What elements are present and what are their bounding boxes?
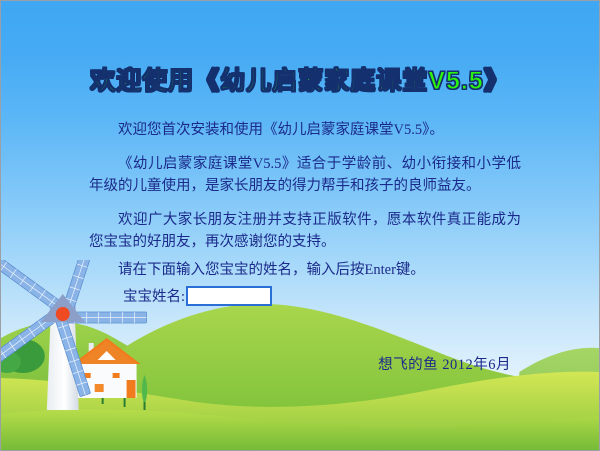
page-title: 欢迎使用《幼儿启蒙家庭课堂V5.5》	[1, 61, 599, 97]
welcome-paragraph-1: 欢迎您首次安装和使用《幼儿启蒙家庭课堂V5.5》。	[89, 119, 521, 141]
welcome-paragraph-2: 《幼儿启蒙家庭课堂V5.5》适合于学龄前、幼小衔接和小学低年级的儿童使用，是家长…	[89, 153, 521, 197]
welcome-screen: 欢迎使用《幼儿启蒙家庭课堂V5.5》 欢迎您首次安装和使用《幼儿启蒙家庭课堂V5…	[0, 0, 600, 451]
welcome-paragraph-4: 请在下面输入您宝宝的姓名，输入后按Enter键。	[89, 259, 521, 281]
baby-name-row: 宝宝姓名:	[123, 285, 272, 306]
baby-name-input[interactable]	[186, 286, 272, 306]
welcome-paragraph-3: 欢迎广大家长朋友注册并支持正版软件，愿本软件真正能成为您宝宝的好朋友，再次感谢您…	[89, 209, 521, 253]
content-layer: 欢迎使用《幼儿启蒙家庭课堂V5.5》 欢迎您首次安装和使用《幼儿启蒙家庭课堂V5…	[1, 1, 599, 450]
signature-credit: 想飞的鱼 2012年6月	[1, 353, 599, 374]
baby-name-label: 宝宝姓名:	[123, 285, 185, 306]
